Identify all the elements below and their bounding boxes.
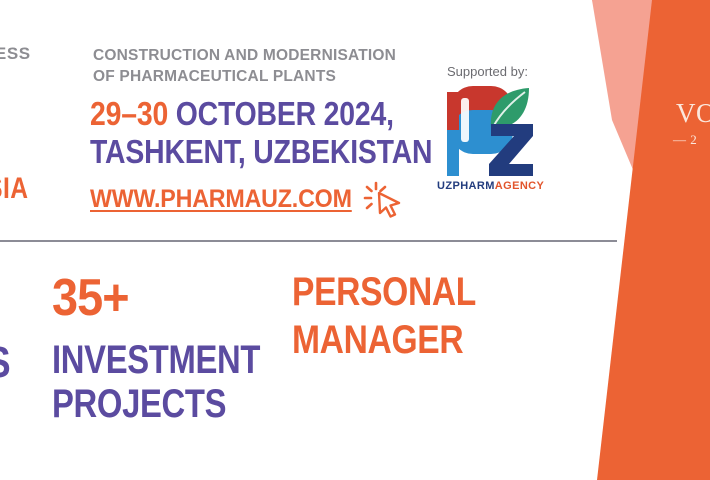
stat-label-line-1: INVESTMENT [52, 338, 260, 382]
feature-label: PERSONAL MANAGER [292, 268, 476, 364]
cropped-congress-text: RESS [0, 44, 31, 64]
logo-caption: UZPHARMAGENCY [437, 180, 544, 192]
cursor-arrow [379, 193, 399, 217]
stat-label: INVESTMENT PROJECTS [52, 338, 260, 426]
click-cursor-icon [363, 178, 405, 220]
event-date-line: 29–30 OCTOBER 2024, [90, 95, 394, 133]
website-row[interactable]: WWW.PHARMAUZ.COM [90, 178, 405, 220]
event-date-range: 29–30 [90, 95, 168, 132]
stat-label-line-2: PROJECTS [52, 382, 226, 426]
promo-banner: RESS ASIA CONSTRUCTION AND MODERNISATION… [0, 0, 710, 480]
event-subtitle: CONSTRUCTION AND MODERNISATION OF PHARMA… [93, 45, 423, 87]
website-link[interactable]: WWW.PHARMAUZ.COM [90, 185, 352, 214]
badge-title-cropped: VO [676, 98, 710, 129]
logo-caption-primary: UZPHARM [437, 180, 495, 192]
event-date-rest: OCTOBER 2024, [168, 95, 394, 132]
stat-number: 35+ [52, 268, 129, 328]
section-divider [0, 240, 617, 242]
cropped-stat-letter: S [0, 338, 11, 388]
badge-subtitle-cropped: — 2 [673, 132, 697, 148]
subtitle-line-1: CONSTRUCTION AND MODERNISATION [93, 47, 396, 64]
cropped-asia-text: ASIA [0, 172, 28, 206]
supported-by-label: Supported by: [447, 64, 528, 79]
feature-label-line-2: MANAGER [292, 318, 463, 362]
logo-caption-secondary: AGENCY [495, 180, 544, 192]
feature-label-line-1: PERSONAL [292, 270, 476, 314]
event-city-line: TASHKENT, UZBEKISTAN [90, 133, 432, 171]
uzpharmagency-logo [437, 84, 545, 185]
subtitle-line-2: OF PHARMACEUTICAL PLANTS [93, 68, 336, 85]
